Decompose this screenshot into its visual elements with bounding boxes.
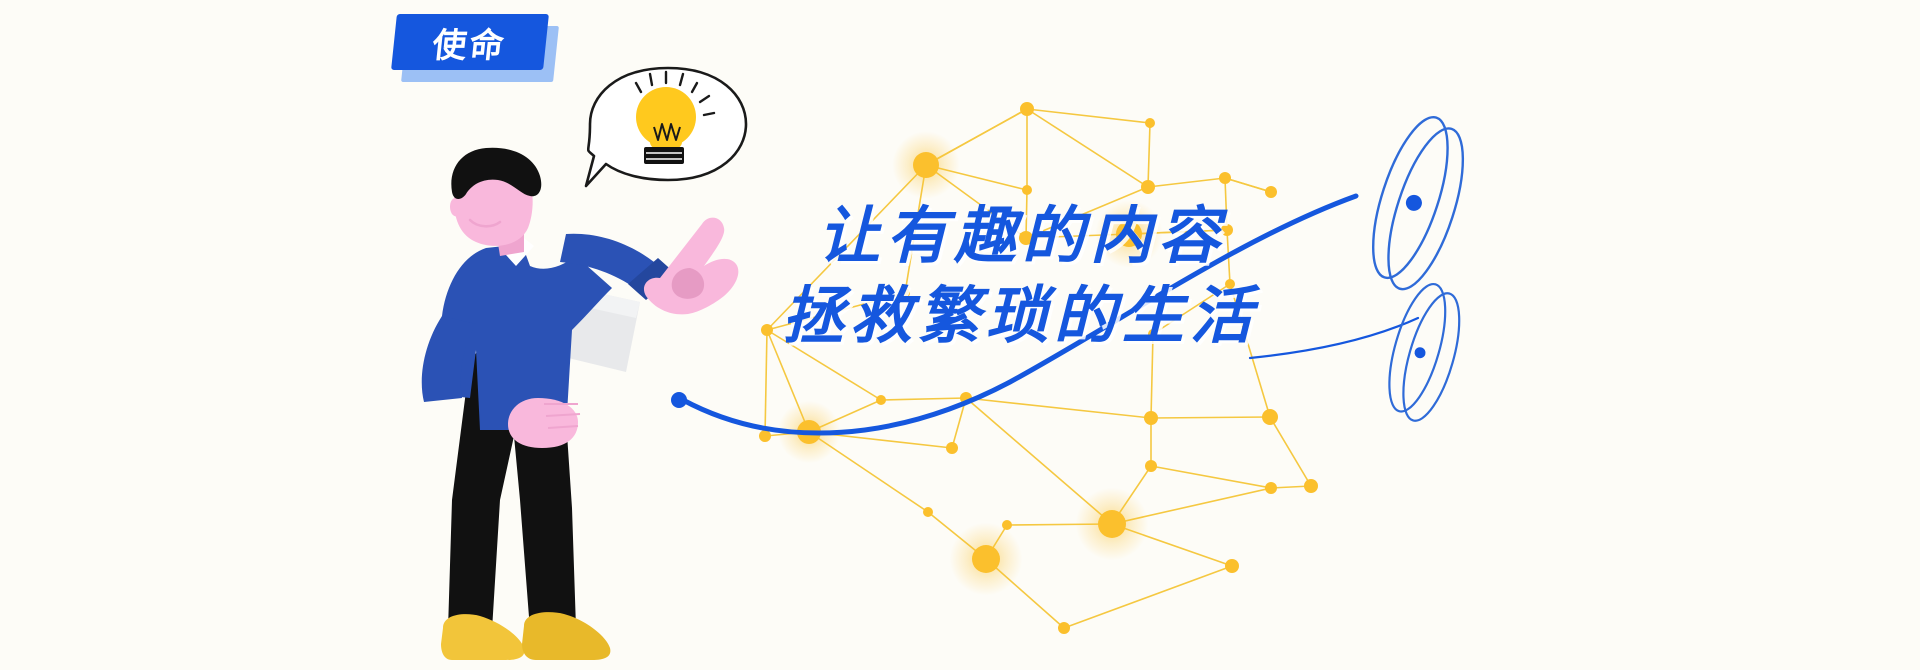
mission-badge-label: 使命 (391, 14, 549, 70)
idea-bubble (586, 68, 746, 186)
headline: 让有趣的内容 拯救繁琐的生活 (818, 196, 1538, 356)
hero-banner: 让有趣的内容 拯救繁琐的生活 使命 (0, 0, 1920, 670)
mission-badge[interactable]: 使命 (394, 14, 556, 82)
headline-line-1: 让有趣的内容 (818, 196, 1538, 276)
shoe-right (522, 612, 610, 660)
lightbulb-base (644, 147, 684, 164)
headline-line-2: 拯救繁琐的生活 (782, 276, 1538, 356)
shoe-left (441, 614, 524, 660)
hand-lower (508, 398, 578, 448)
